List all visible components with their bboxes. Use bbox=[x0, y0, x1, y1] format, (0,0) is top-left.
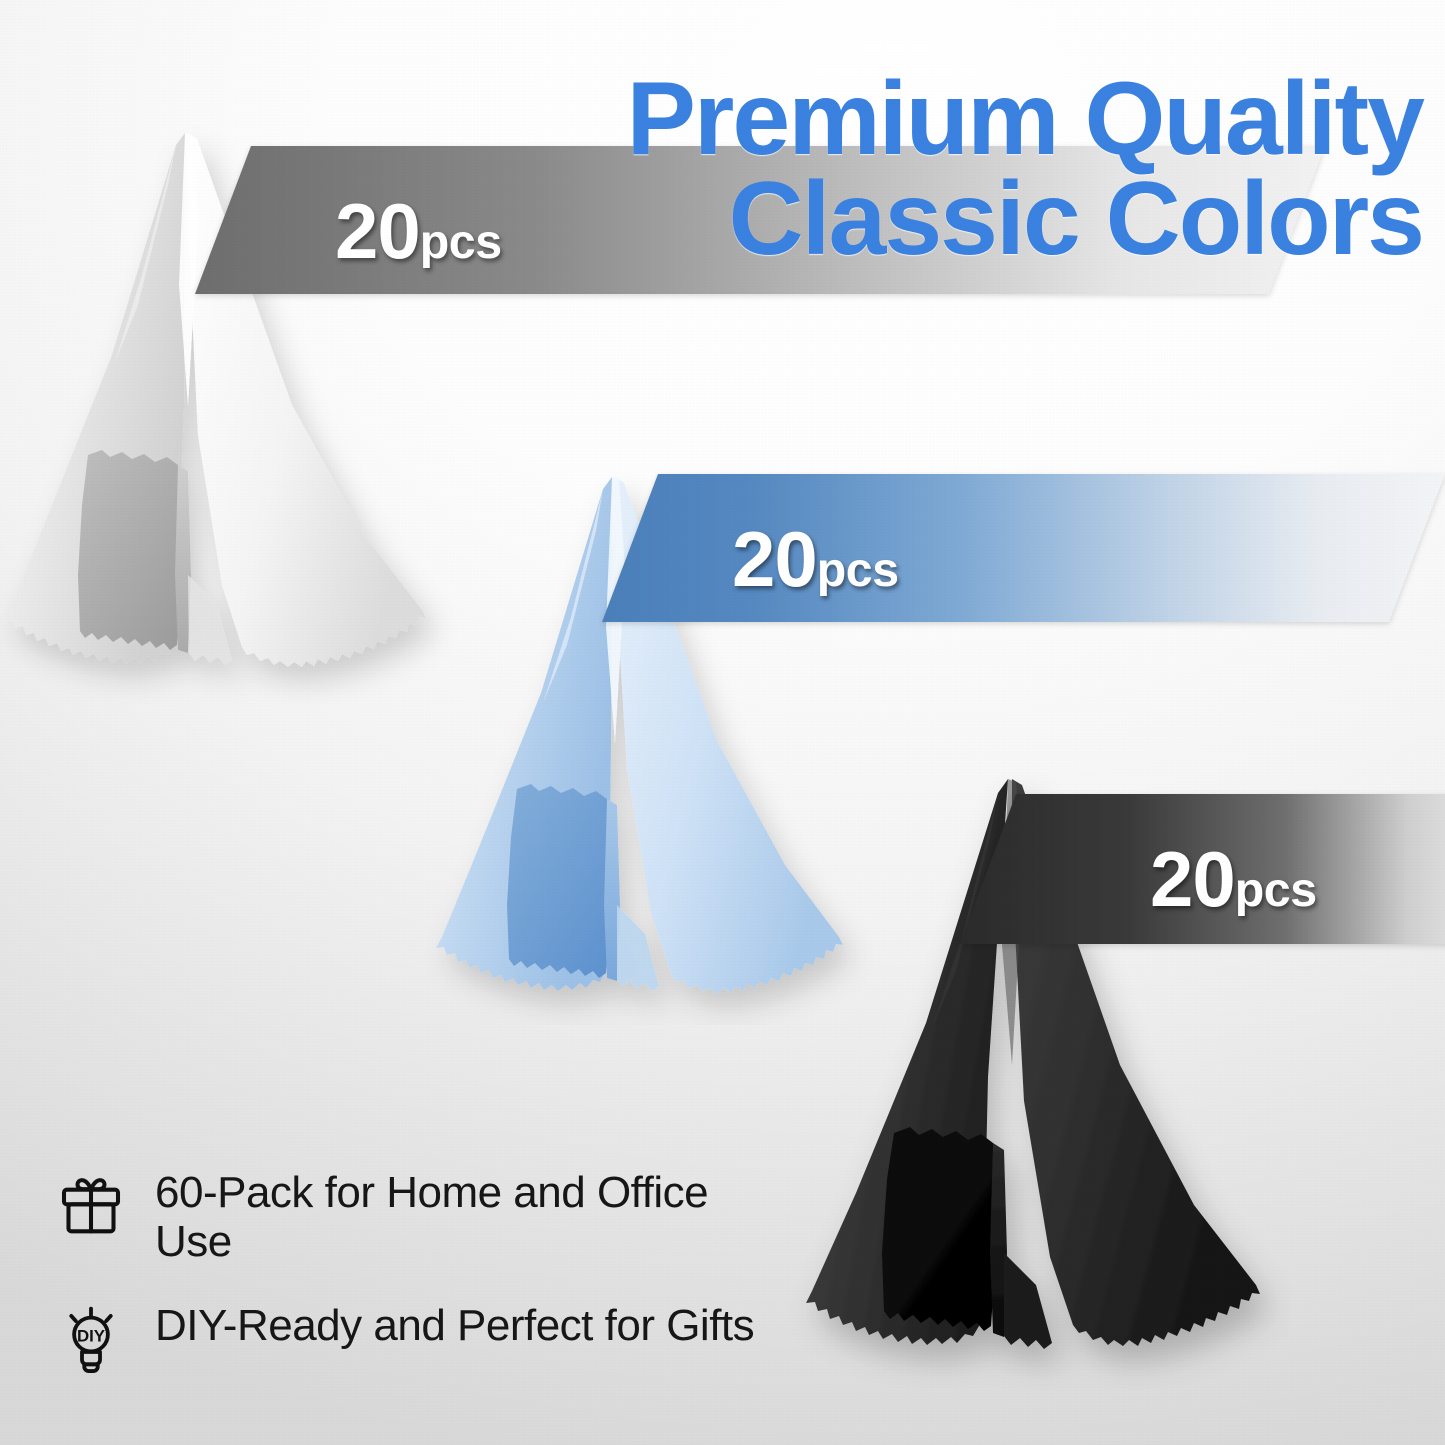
banner-black-label: 20pcs bbox=[1150, 840, 1317, 918]
feature-list: 60-Pack for Home and Office Use DIY DIY-… bbox=[55, 1168, 755, 1409]
banner-black-20pcs: 20pcs bbox=[960, 794, 1445, 944]
feature-label: DIY-Ready and Perfect for Gifts bbox=[155, 1301, 754, 1350]
feature-item-pack-size: 60-Pack for Home and Office Use bbox=[55, 1168, 755, 1267]
diy-bulb-icon: DIY bbox=[55, 1303, 127, 1375]
feature-item-diy-gift: DIY DIY-Ready and Perfect for Gifts bbox=[55, 1301, 755, 1375]
banner-blue-20pcs: 20pcs bbox=[602, 474, 1445, 622]
headline-line-1: Premium Quality bbox=[393, 70, 1423, 170]
product-infographic: 20pcs Premium Quality Classic Colors bbox=[0, 0, 1445, 1445]
feature-label: 60-Pack for Home and Office Use bbox=[155, 1168, 755, 1267]
page-title: Premium Quality Classic Colors bbox=[393, 70, 1423, 270]
banner-blue-label: 20pcs bbox=[732, 520, 899, 598]
diy-badge-text: DIY bbox=[77, 1326, 105, 1345]
headline-line-2: Classic Colors bbox=[393, 170, 1423, 270]
gift-icon bbox=[55, 1170, 127, 1242]
